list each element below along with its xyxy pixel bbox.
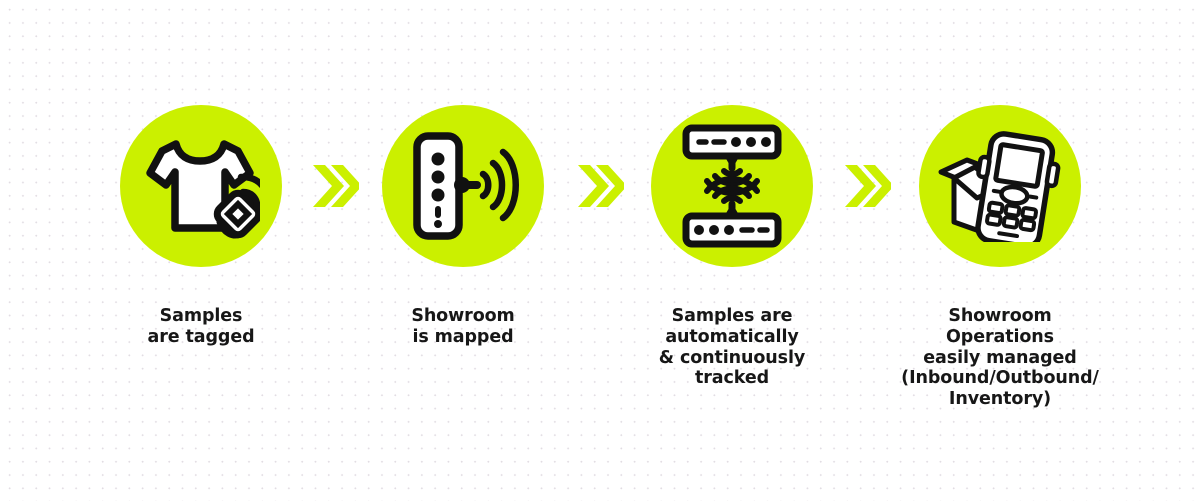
caption-line: Inventory) [880, 389, 1120, 410]
caption-line: Samples [81, 306, 321, 327]
box-handheld-scanner-icon [937, 130, 1063, 242]
caption-line: easily managed [880, 348, 1120, 369]
step-caption: Samples are automatically & continuously… [612, 306, 852, 389]
process-step-samples-tagged: Samples are tagged [81, 105, 321, 348]
caption-line: automatically [612, 327, 852, 348]
step-caption: Showroom is mapped [343, 306, 583, 348]
caption-line: & continuously [612, 348, 852, 369]
paired-readers-signal-icon [682, 124, 782, 248]
step-icon-circle [651, 105, 813, 267]
process-step-samples-tracked: Samples are automatically & continuously… [612, 105, 852, 389]
caption-line: Operations [880, 327, 1120, 348]
process-step-showroom-mapped: Showroom is mapped [343, 105, 583, 348]
step-caption: Samples are tagged [81, 306, 321, 348]
process-step-operations-managed: Showroom Operations easily managed (Inbo… [880, 105, 1120, 410]
caption-line: tracked [612, 368, 852, 389]
caption-line: Samples are [612, 306, 852, 327]
caption-line: (Inbound/Outbound/ [880, 368, 1120, 389]
step-icon-circle [919, 105, 1081, 267]
tshirt-rfid-tag-icon [142, 130, 260, 242]
step-icon-circle [382, 105, 544, 267]
caption-line: is mapped [343, 327, 583, 348]
step-icon-circle [120, 105, 282, 267]
process-flow-diagram: Samples are tagged [0, 0, 1200, 501]
caption-line: are tagged [81, 327, 321, 348]
caption-line: Showroom [880, 306, 1120, 327]
rfid-reader-beacon-icon [404, 130, 522, 242]
step-caption: Showroom Operations easily managed (Inbo… [880, 306, 1120, 410]
caption-line: Showroom [343, 306, 583, 327]
